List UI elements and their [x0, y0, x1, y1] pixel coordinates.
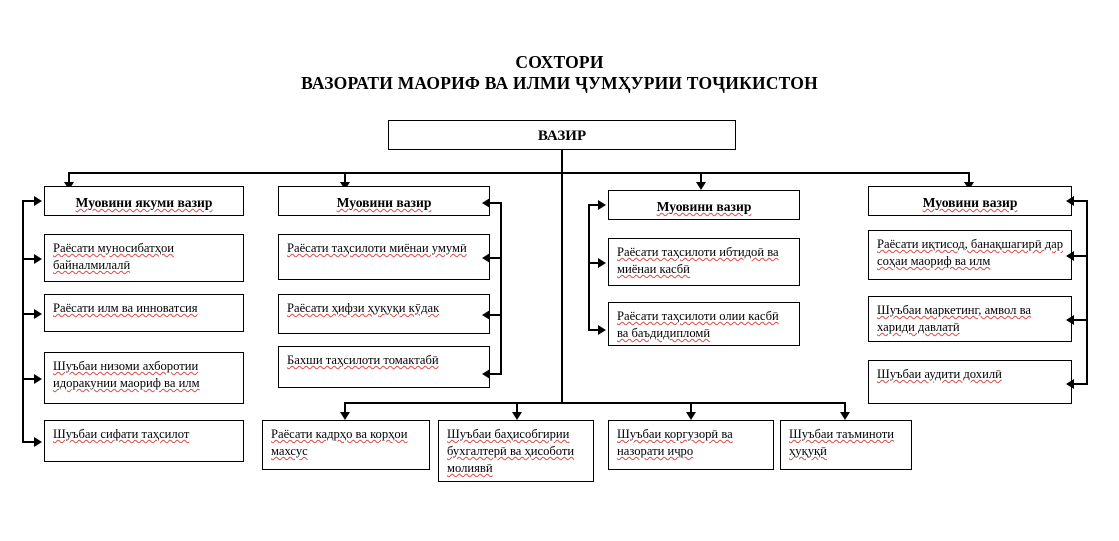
- arrow-left-c2-2: [482, 369, 490, 379]
- node-bottom-item-1[interactable]: Шуъбаи баҳисобгирии бухгалтерӣ ва ҳисобо…: [438, 420, 594, 482]
- node-c3-item-1[interactable]: Раёсати таҳсилоти олии касбӣ ва баъдидип…: [608, 302, 800, 346]
- connector-root-stem: [561, 150, 563, 172]
- node-deputy-minister-4[interactable]: Муовини вазир: [868, 186, 1072, 216]
- node-c1-item-3[interactable]: Шуъбаи сифати таҳсилот: [44, 420, 244, 462]
- arrow-down-bottom-1: [512, 412, 522, 420]
- node-bottom-item-0-label: Раёсати кадрҳо ва корҳои махсус: [271, 426, 423, 460]
- arrow-left-c4-head: [1066, 196, 1074, 206]
- arrow-down-col3: [696, 182, 706, 190]
- node-c2-item-0-label: Раёсати таҳсилоти миёнаи умумӣ: [287, 240, 483, 257]
- connector-c3-spine: [588, 204, 590, 330]
- node-deputy-minister-3[interactable]: Муовини вазир: [608, 190, 800, 220]
- node-minister[interactable]: ВАЗИР: [388, 120, 736, 150]
- arrow-right-c3-0: [598, 258, 606, 268]
- node-c4-item-1[interactable]: Шуъбаи маркетинг, амвол ва хариди давлат…: [868, 296, 1072, 342]
- connector-c1-spine: [22, 200, 24, 442]
- arrow-down-bottom-2: [686, 412, 696, 420]
- org-chart-page: СОХТОРИ ВАЗОРАТИ МАОРИФ ВА ИЛМИ ҶУМҲУРИИ…: [0, 0, 1119, 541]
- node-c2-item-0[interactable]: Раёсати таҳсилоти миёнаи умумӣ: [278, 234, 490, 280]
- connector-c2-tie-1: [488, 314, 502, 316]
- connector-c2-tie-head: [488, 202, 502, 204]
- node-minister-label: ВАЗИР: [389, 128, 735, 145]
- arrow-left-c2-0: [482, 253, 490, 263]
- node-c1-item-2[interactable]: Шуъбаи низоми ахборотии идоракунии маори…: [44, 352, 244, 404]
- connector-c4-tie-1: [1074, 319, 1088, 321]
- node-c3-item-1-label: Раёсати таҳсилоти олии касбӣ ва баъдидип…: [617, 308, 793, 342]
- node-c4-item-2-label: Шуъбаи аудити дохилӣ: [877, 366, 1065, 383]
- arrow-left-c2-head: [482, 198, 490, 208]
- connector-c4-spine: [1086, 200, 1088, 384]
- node-bottom-item-1-label: Шуъбаи баҳисобгирии бухгалтерӣ ва ҳисобо…: [447, 426, 587, 477]
- node-bottom-item-2[interactable]: Шуъбаи коргузорӣ ва назорати иҷро: [608, 420, 774, 470]
- node-deputy-minister-3-label: Муовини вазир: [613, 198, 795, 215]
- node-c3-item-0-label: Раёсати таҳсилоти ибтидоӣ ва миёнаи касб…: [617, 244, 793, 278]
- connector-c4-tie-head: [1074, 200, 1088, 202]
- node-bottom-item-2-label: Шуъбаи коргузорӣ ва назорати иҷро: [617, 426, 767, 460]
- arrow-down-bottom-3: [840, 412, 850, 420]
- node-c2-item-1-label: Раёсати ҳифзи ҳуқуқи кӯдак: [287, 300, 483, 317]
- node-deputy-minister-2[interactable]: Муовини вазир: [278, 186, 490, 216]
- node-c1-item-3-label: Шуъбаи сифати таҳсилот: [53, 426, 237, 443]
- arrow-right-c3-1: [598, 325, 606, 335]
- arrow-down-bottom-0: [340, 412, 350, 420]
- node-c4-item-0[interactable]: Раёсати иқтисод, банақшагирӣ дар соҳаи м…: [868, 230, 1072, 280]
- arrow-right-c1-head: [34, 196, 42, 206]
- node-first-deputy-minister-label: Муовини якуми вазир: [49, 194, 239, 211]
- node-c2-item-2[interactable]: Бахши таҳсилоти томактабӣ: [278, 346, 490, 388]
- node-bottom-item-0[interactable]: Раёсати кадрҳо ва корҳои махсус: [262, 420, 430, 470]
- node-c1-item-1[interactable]: Раёсати илм ва инноватсия: [44, 294, 244, 332]
- connector-c4-tie-0: [1074, 255, 1088, 257]
- arrow-left-c4-2: [1066, 379, 1074, 389]
- connector-bottom-bus: [344, 402, 846, 404]
- connector-top-bus: [68, 172, 970, 174]
- arrow-right-c1-3: [34, 437, 42, 447]
- node-c3-item-0[interactable]: Раёсати таҳсилоти ибтидоӣ ва миёнаи касб…: [608, 238, 800, 286]
- arrow-left-c2-1: [482, 310, 490, 320]
- connector-c4-tie-2: [1074, 383, 1088, 385]
- arrow-right-c1-2: [34, 374, 42, 384]
- node-c1-item-0-label: Раёсати муносибатҳои байналмилалӣ: [53, 240, 237, 274]
- node-c4-item-2[interactable]: Шуъбаи аудити дохилӣ: [868, 360, 1072, 404]
- connector-c2-tie-0: [488, 257, 502, 259]
- arrow-right-c1-1: [34, 309, 42, 319]
- title-line-1: СОХТОРИ: [0, 52, 1119, 73]
- node-bottom-item-3[interactable]: Шуъбаи таъминоти ҳуқуқӣ: [780, 420, 912, 470]
- chart-title: СОХТОРИ ВАЗОРАТИ МАОРИФ ВА ИЛМИ ҶУМҲУРИИ…: [0, 52, 1119, 94]
- node-c4-item-1-label: Шуъбаи маркетинг, амвол ва хариди давлат…: [877, 302, 1065, 336]
- arrow-left-c4-1: [1066, 315, 1074, 325]
- connector-center-spine: [561, 172, 563, 402]
- node-c2-item-1[interactable]: Раёсати ҳифзи ҳуқуқи кӯдак: [278, 294, 490, 334]
- node-c1-item-2-label: Шуъбаи низоми ахборотии идоракунии маори…: [53, 358, 237, 392]
- node-first-deputy-minister[interactable]: Муовини якуми вазир: [44, 186, 244, 216]
- connector-c2-spine: [500, 202, 502, 374]
- connector-c2-tie-2: [488, 373, 502, 375]
- node-c1-item-0[interactable]: Раёсати муносибатҳои байналмилалӣ: [44, 234, 244, 282]
- arrow-right-c1-0: [34, 254, 42, 264]
- node-bottom-item-3-label: Шуъбаи таъминоти ҳуқуқӣ: [789, 426, 905, 460]
- node-c4-item-0-label: Раёсати иқтисод, банақшагирӣ дар соҳаи м…: [877, 236, 1065, 270]
- arrow-left-c4-0: [1066, 251, 1074, 261]
- node-deputy-minister-2-label: Муовини вазир: [283, 194, 485, 211]
- title-line-2: ВАЗОРАТИ МАОРИФ ВА ИЛМИ ҶУМҲУРИИ ТОҶИКИС…: [0, 73, 1119, 94]
- arrow-right-c3-head: [598, 200, 606, 210]
- node-deputy-minister-4-label: Муовини вазир: [873, 194, 1067, 211]
- node-c2-item-2-label: Бахши таҳсилоти томактабӣ: [287, 352, 483, 369]
- node-c1-item-1-label: Раёсати илм ва инноватсия: [53, 300, 237, 317]
